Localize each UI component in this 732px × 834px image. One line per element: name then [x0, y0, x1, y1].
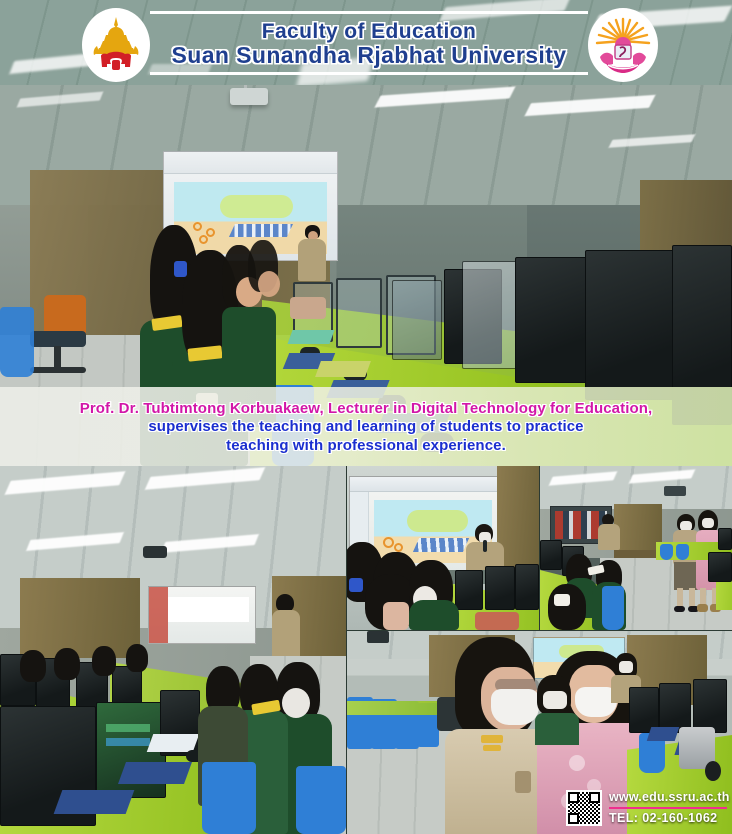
poster-root: Faculty of Education Suan Sunandha Rjabh…: [0, 0, 732, 834]
browser-toolbar: [164, 152, 337, 174]
leg: [689, 588, 695, 608]
wall-speaker: [367, 631, 389, 643]
student-hair: [126, 644, 148, 672]
ceiling-projector: [143, 546, 167, 558]
poster-header: Faculty of Education Suan Sunandha Rjabh…: [0, 0, 732, 85]
study-materials: [287, 330, 334, 344]
ceiling-light: [524, 95, 655, 116]
monitor: [585, 250, 681, 400]
mouse-pad: [118, 762, 192, 784]
hair-clip: [174, 261, 187, 277]
slide-accent: [149, 587, 168, 643]
monitor: [659, 683, 691, 733]
student-hair: [20, 650, 46, 682]
face-mask: [619, 661, 633, 673]
qr-finder-pattern: [589, 792, 600, 803]
gallery-photo-two-staff-standing: [540, 466, 732, 630]
qr-code-icon[interactable]: [566, 790, 602, 826]
shoulder-insignia: [481, 735, 503, 743]
blue-chair: [202, 762, 256, 834]
gear-icon: [199, 235, 208, 244]
solar-panel-graphic: [229, 224, 293, 237]
projection-screen: [148, 586, 256, 644]
monitor: [455, 570, 483, 610]
ceiling-light: [5, 471, 126, 495]
face-mask: [491, 689, 539, 725]
screen-content: [106, 724, 150, 732]
caption-line-3: teaching with professional experience.: [226, 437, 506, 455]
monitor: [515, 257, 593, 383]
wooden-cabinet: [20, 578, 140, 658]
speaker-uniform: [298, 239, 326, 281]
chair-legs: [30, 367, 86, 373]
uniform-pocket: [515, 771, 531, 793]
gear-icon: [383, 537, 394, 548]
photo-gallery: www.edu.ssru.ac.th TEL: 02-160-1062: [0, 466, 732, 834]
student-uniform: [409, 600, 459, 630]
qr-finder-pattern: [568, 813, 579, 824]
blue-chair: [602, 586, 624, 630]
speech-bubble: [407, 510, 469, 532]
slide-text-area: [168, 597, 249, 622]
monitor: [485, 566, 515, 610]
monitor: [708, 552, 732, 582]
speech-bubble: [220, 195, 293, 218]
floral-pattern: [569, 755, 585, 771]
instructor-uniform: [272, 610, 300, 658]
student-hair: [92, 646, 116, 676]
ceiling-light: [608, 134, 695, 148]
mouse-pad: [647, 727, 680, 741]
blue-chair: [296, 766, 346, 834]
faculty-title-line1: Faculty of Education: [262, 21, 477, 42]
blue-chair: [0, 307, 34, 377]
chair-seat: [30, 331, 86, 347]
monitor: [540, 540, 562, 570]
leg: [677, 588, 683, 608]
ceiling-light: [145, 467, 265, 490]
student-hair: [548, 584, 586, 630]
hair-ribbon: [554, 594, 570, 606]
gear-icon: [193, 222, 202, 231]
header-title-block: Faculty of Education Suan Sunandha Rjabh…: [150, 16, 588, 72]
gallery-photo-lab-wide: [0, 466, 346, 834]
solar-panel-graphic: [413, 538, 469, 552]
microphone: [483, 540, 487, 552]
ceiling-light: [161, 534, 259, 553]
student-hair: [54, 648, 80, 680]
gallery-photo-lecturer-mic: [347, 466, 539, 630]
hair-clip: [349, 578, 363, 592]
ceiling-light: [549, 471, 618, 485]
website-url[interactable]: www.edu.ssru.ac.th: [609, 791, 730, 804]
ceiling-light: [26, 532, 124, 551]
face-mask: [702, 518, 714, 528]
contact-text: www.edu.ssru.ac.th TEL: 02-160-1062: [609, 791, 730, 824]
caption-line-1: Prof. Dr. Tubtimtong Korbuakaew, Lecture…: [80, 400, 653, 418]
study-materials: [315, 361, 371, 377]
student-face: [383, 602, 409, 630]
ceiling-light: [629, 469, 696, 483]
shoe: [697, 604, 708, 612]
face-mask: [543, 691, 567, 709]
shoulder-insignia: [483, 745, 501, 751]
browser-toolbar: [350, 477, 498, 492]
bag: [290, 297, 326, 319]
contact-footer: www.edu.ssru.ac.th TEL: 02-160-1062: [566, 786, 726, 830]
qr-finder-pattern: [568, 792, 579, 803]
telephone-number: TEL: 02-160-1062: [609, 812, 730, 825]
bag-charm: [705, 761, 721, 781]
header-rule-bottom: [150, 72, 588, 75]
wall-speaker: [664, 486, 686, 496]
header-rule-top: [150, 11, 588, 14]
footer-divider: [609, 807, 727, 809]
university-title-line2: Suan Sunandha Rjabhat University: [172, 44, 567, 67]
caption-band: Prof. Dr. Tubtimtong Korbuakaew, Lecture…: [0, 387, 732, 466]
face-mask: [282, 688, 310, 718]
monitor: [392, 280, 442, 360]
mouse-pad: [54, 790, 135, 814]
monitor: [515, 564, 539, 610]
screen-content: [106, 738, 150, 746]
ssru-crown-emblem-icon: [82, 8, 150, 82]
gear-icon: [394, 543, 403, 552]
ceiling-light: [17, 92, 104, 108]
desk-partition: [336, 278, 382, 348]
student-face: [258, 271, 280, 297]
ceiling-light: [375, 86, 516, 107]
blue-chair: [660, 544, 673, 560]
ceiling-projector: [230, 88, 268, 105]
wooden-cabinet: [614, 504, 662, 550]
office-chair: [26, 291, 90, 383]
caption-line-2: supervises the teaching and learning of …: [148, 418, 583, 436]
monitor: [718, 528, 732, 550]
gallery-photo-two-staff-seated: www.edu.ssru.ac.th TEL: 02-160-1062: [347, 631, 732, 834]
shoe: [674, 606, 685, 612]
ssru-sunburst-emblem-icon: [588, 8, 658, 82]
gear-icon: [206, 228, 215, 237]
pencil-case: [475, 612, 519, 630]
instructor-uniform: [598, 524, 620, 550]
staff-skirt: [674, 562, 698, 590]
student-uniform: [535, 713, 579, 745]
monitor: [693, 679, 727, 733]
blue-chair: [676, 544, 689, 560]
